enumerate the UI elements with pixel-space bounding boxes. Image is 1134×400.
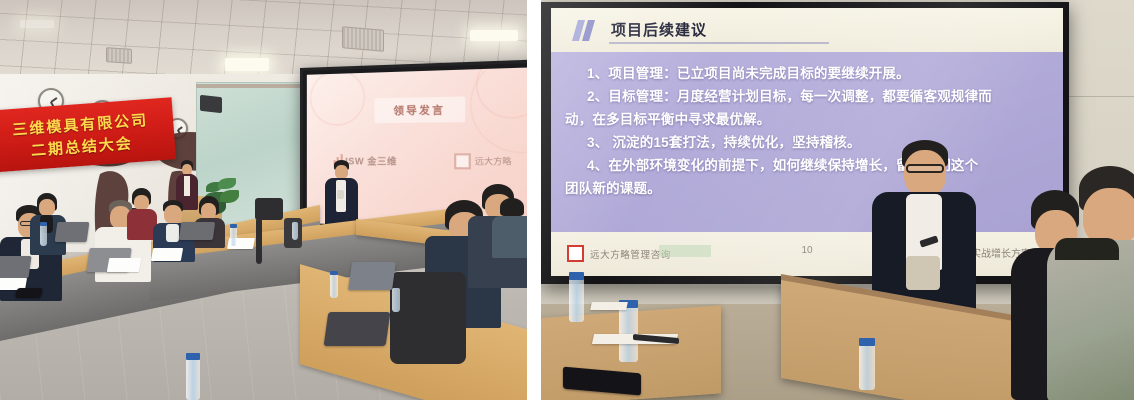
bottle-cap: [230, 224, 237, 228]
ceiling-light-1: [225, 58, 269, 71]
slide-body-line-3: 动，在多目标平衡中寻求最优解。: [565, 108, 1049, 131]
laptop: [179, 222, 216, 240]
slide-body-line-2: 2、目标管理：月度经营计划目标，每一次调整，都要循客观规律而: [565, 85, 1049, 108]
head: [335, 165, 348, 179]
footer-logo: 远大方略管理咨询: [567, 245, 671, 262]
chair: [256, 218, 262, 264]
bottle-cap: [569, 272, 584, 280]
ceiling-vent-2: [106, 47, 132, 64]
shirt: [166, 224, 179, 242]
hair: [500, 198, 524, 216]
leaf: [218, 178, 236, 189]
torso: [492, 216, 527, 258]
hands: [906, 256, 940, 290]
water-bottle: [569, 278, 584, 322]
bottle-cap: [40, 222, 47, 226]
head: [164, 205, 182, 224]
slide-footer: 远大方略管理咨询 10 中国实战增长方案解决: [551, 232, 1063, 276]
square-logo-icon: [454, 153, 471, 169]
water-bottle: [230, 226, 237, 246]
slide-body: 1、项目管理：已立项目尚未完成目标的要继续开展。 2、目标管理：月度经营计划目标…: [551, 52, 1063, 232]
torso: [1047, 240, 1134, 400]
laptop-foreground: [324, 312, 391, 346]
person-foreground-right-3: [492, 198, 527, 258]
water-bottle: [392, 288, 400, 312]
right-slide: 项目后续建议 1、项目管理：已立项目尚未完成目标的要继续开展。 2、目标管理：月…: [551, 8, 1063, 276]
glasses: [906, 164, 944, 173]
laptop: [348, 262, 396, 290]
footer-highlight: [659, 245, 711, 257]
slide-title: 项目后续建议: [611, 19, 707, 40]
laptop: [55, 222, 90, 242]
water-bottle-under-presenter: [859, 344, 875, 390]
slide-body-line-1: 1、项目管理：已立项目尚未完成目标的要继续开展。: [565, 62, 1049, 85]
smartphone: [15, 288, 43, 298]
water-bottle-foreground: [186, 358, 200, 400]
collar: [1055, 238, 1119, 260]
slide-header: 项目后续建议: [551, 8, 1063, 52]
microphone: [337, 190, 344, 199]
bottle-cap: [330, 271, 338, 275]
head: [134, 195, 149, 210]
head: [201, 203, 216, 219]
paper-stack: [590, 302, 628, 310]
name-card: [151, 248, 183, 261]
yuanda-square-icon: [567, 245, 584, 262]
bottle-cap: [186, 353, 200, 360]
water-bottle: [330, 274, 338, 298]
yuanda-logo: 远大方略: [454, 153, 512, 170]
left-slide-title: 领导发言: [393, 105, 445, 117]
name-card: [107, 258, 141, 272]
panel-divider: [527, 0, 541, 400]
slide-page-number: 10: [801, 245, 812, 256]
head: [39, 199, 55, 216]
chair: [255, 198, 283, 220]
wall-speaker: [200, 95, 222, 113]
bottle-cap: [859, 338, 875, 346]
chair-foreground: [390, 272, 466, 364]
ceiling-light-3: [20, 20, 54, 28]
yuanda-logo-text: 远大方略: [475, 155, 512, 167]
shirt: [184, 176, 190, 196]
photo-collage: 三维模具有限公司 二期总结大会 领导发言 ISW 金三维: [0, 0, 1134, 400]
water-bottle: [292, 222, 298, 240]
ceiling-light-2: [470, 30, 518, 41]
ceiling-vent-1: [342, 26, 384, 52]
water-bottle: [40, 224, 47, 246]
laptop: [0, 256, 32, 278]
head: [904, 150, 946, 196]
right-presentation-photo: 项目后续建议 1、项目管理：已立项目尚未完成目标的要继续开展。 2、目标管理：月…: [541, 0, 1134, 400]
double-slash-icon: [572, 20, 604, 41]
right-projection-screen: 项目后续建议 1、项目管理：已立项目尚未完成目标的要继续开展。 2、目标管理：月…: [541, 2, 1069, 284]
person-foreground-back-2: [1061, 166, 1134, 400]
left-conference-room-photo: 三维模具有限公司 二期总结大会 领导发言 ISW 金三维: [0, 0, 527, 400]
left-slide-title-box: 领导发言: [374, 96, 465, 123]
slide-title-rule: [609, 42, 829, 44]
